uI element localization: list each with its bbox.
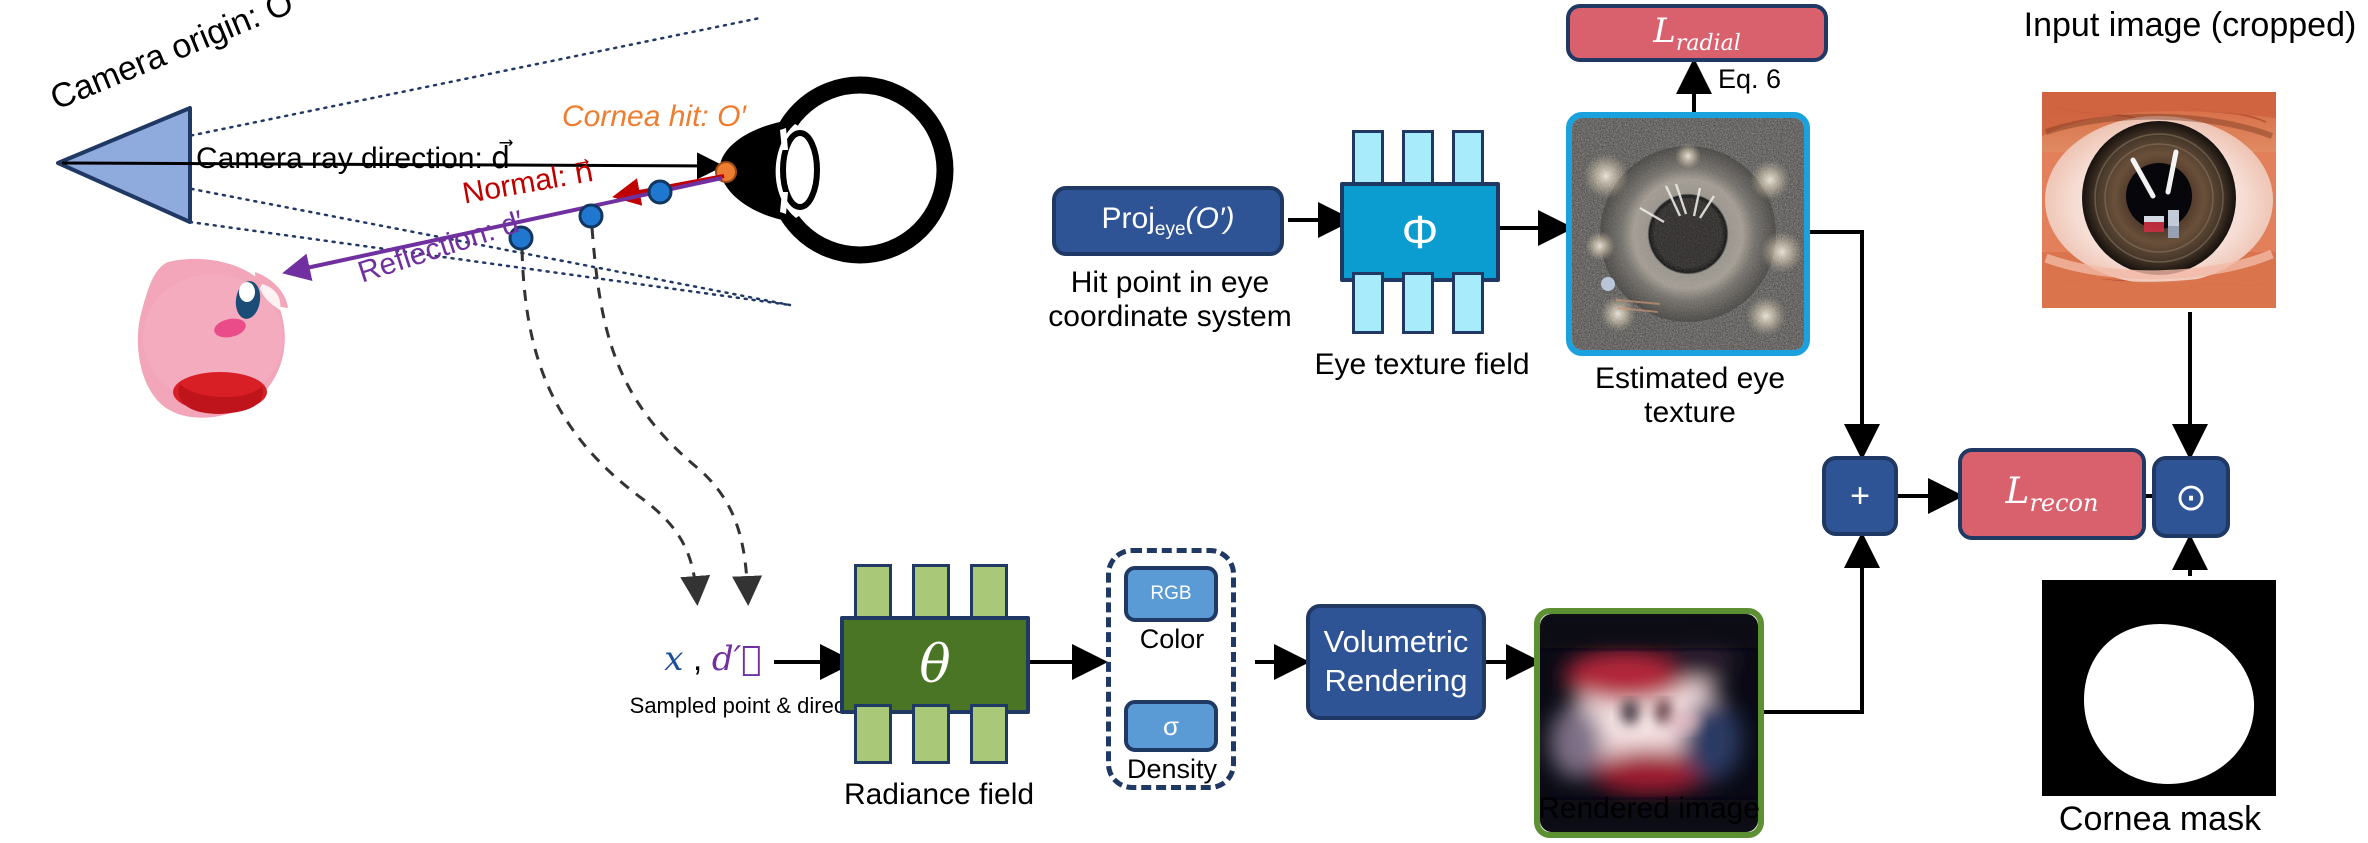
sample-callout-curves [522,228,748,600]
theta-symbol: θ [919,635,950,695]
volumetric-rendering-node[interactable]: Volumetric Rendering [1306,604,1486,720]
estimated-eye-texture-patch [1566,112,1810,356]
radiance-field-caption: Radiance field [820,778,1058,812]
cornea-hit-point [716,162,736,182]
loss-radial-label: Lradial [1653,11,1740,56]
mlp-bar-bot-3 [1452,272,1484,334]
loss-recon-label: Lrecon [2006,471,2099,517]
phi-symbol: Φ [1402,205,1439,259]
rgb-output-badge: RGB [1124,566,1218,622]
arrow-texture-to-add [1806,232,1862,452]
mask-multiply-symbol: ⊙ [2175,475,2207,520]
add-node[interactable]: + [1822,456,1898,536]
add-symbol: + [1850,477,1870,516]
radiance-bar-bot-3 [970,704,1008,764]
input-image-caption: Input image (cropped) [2020,6,2360,44]
camera-origin-label: Camera origin: O [12,0,331,131]
radiance-bar-bot-2 [912,704,950,764]
radiance-field-mlp[interactable]: θ [840,564,1036,764]
cornea-mask-frame [2042,580,2276,796]
density-output-badge: σ [1124,700,1218,752]
mlp-bar-bot-1 [1352,272,1384,334]
mask-multiply-node[interactable]: ⊙ [2152,456,2230,538]
loss-radial-node[interactable]: Lradial [1566,4,1828,62]
volumetric-rendering-line2: Rendering [1324,662,1467,701]
kirby-object-icon [138,259,288,418]
proj-caption: Hit point in eye coordinate system [1010,266,1330,333]
radiance-bar-top-1 [854,564,892,624]
radiance-bar-top-3 [970,564,1008,624]
cornea-hit-label: Cornea hit: O′ [562,100,812,134]
loss-radial-equation-ref: Eq. 6 [1718,64,1838,94]
sigma-label: σ [1163,711,1179,742]
mlp-bar-bot-2 [1402,272,1434,334]
cornea-mask-caption: Cornea mask [2032,800,2288,838]
eye-texture-field-core[interactable]: Φ [1340,182,1500,282]
arrow-rendered-to-add [1760,540,1862,712]
input-image-frame [2042,92,2276,308]
sampled-point-symbols: x , d′⃗ [648,640,778,678]
volumetric-rendering-line1: Volumetric [1324,623,1469,662]
proj-eye-node[interactable]: Projeye(O′) [1052,186,1284,256]
density-output-caption: Density [1110,754,1234,784]
figure-canvas: Camera origin: O Camera ray direction: d… [0,0,2368,843]
radiance-bar-top-2 [912,564,950,624]
camera-frustum-icon [58,108,190,222]
radiance-field-core[interactable]: θ [840,616,1030,714]
rgb-label: RGB [1150,583,1191,605]
proj-eye-label: Projeye(O′) [1102,202,1235,241]
eye-texture-field-mlp[interactable]: Φ [1340,130,1504,330]
radiance-bar-bot-1 [854,704,892,764]
rendered-image-caption: Rendered image [1514,792,1784,826]
loss-recon-node[interactable]: Lrecon [1958,448,2146,540]
color-output-caption: Color [1110,624,1234,654]
estimated-eye-texture-caption: Estimated eye texture [1570,362,1810,429]
eye-texture-field-caption: Eye texture field [1292,348,1552,382]
